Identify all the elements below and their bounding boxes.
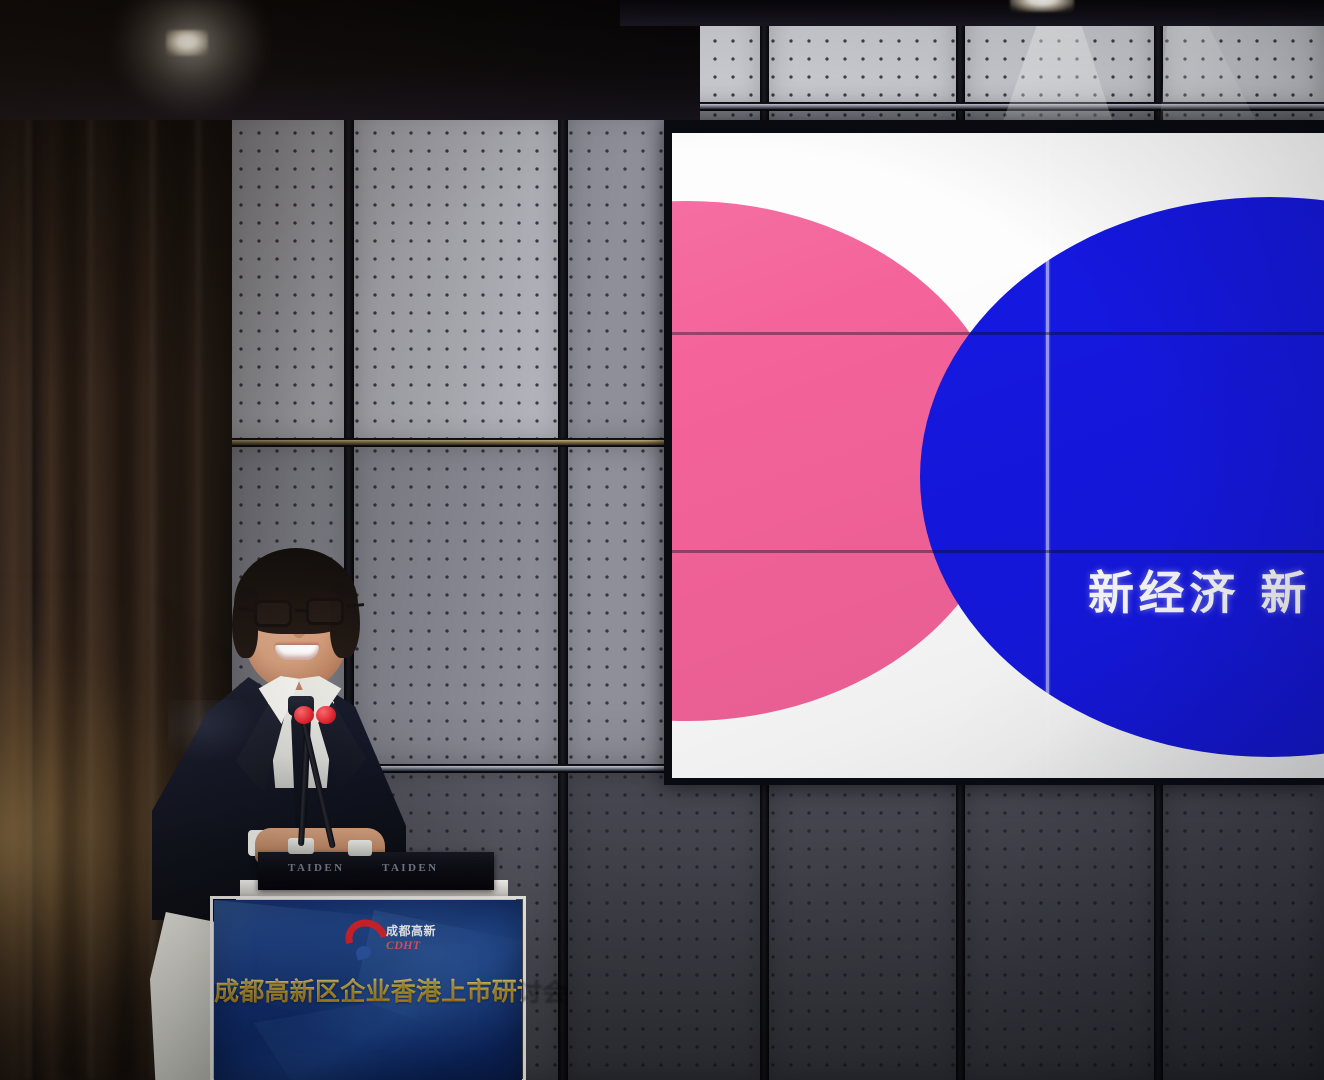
logo-english-text: CDHT [386, 938, 420, 953]
curtain-shadow-fold [118, 40, 138, 1080]
glasses-lens [254, 600, 292, 627]
ceiling [0, 0, 700, 120]
microphone-head [316, 706, 336, 724]
wall-panel [352, 446, 560, 766]
curtain-fold [26, 40, 31, 1080]
ceiling-spotlight-icon [1010, 0, 1074, 12]
curtain-shadow-fold [58, 40, 78, 1080]
blue-circle-graphic [920, 197, 1324, 757]
video-wall-seam [672, 550, 1324, 553]
mouth-smile [275, 645, 319, 660]
video-wall-seam [1046, 133, 1049, 778]
console-brand-left: TAIDEN [288, 862, 345, 874]
podium-banner-title: 成都高新区企业香港上市研讨会 [214, 972, 522, 1008]
console-brand-right: TAIDEN [382, 862, 439, 874]
wall-panel [218, 110, 346, 440]
wall-panel [352, 110, 560, 440]
wall-seam [558, 0, 568, 1080]
video-wall-seam [672, 332, 1324, 335]
logo-chinese-text: 成都高新 [386, 922, 436, 939]
wall-panel [768, 772, 958, 1080]
glasses-bridge [295, 609, 308, 612]
microphone-head [294, 706, 314, 724]
mic-base [348, 840, 372, 856]
wall-panel [566, 772, 762, 1080]
video-wall-headline: 新经济 新 [1088, 557, 1311, 623]
conference-photo: 新经济 新 [0, 0, 1324, 1080]
ceiling-spotlight-icon [166, 30, 208, 56]
curtain-fold [88, 40, 93, 1080]
wall-panel [964, 772, 1156, 1080]
curtain-fold [150, 40, 155, 1080]
glasses-lens [306, 598, 344, 625]
wall-panel [1162, 772, 1324, 1080]
ceiling-edge [620, 0, 1324, 26]
video-wall-screen[interactable]: 新经济 新 [672, 133, 1324, 778]
